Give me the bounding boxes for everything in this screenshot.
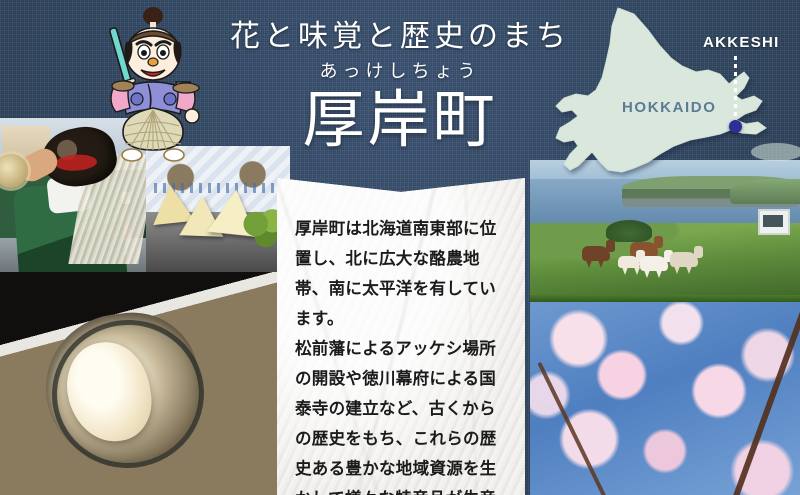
photo-horse: [640, 256, 668, 271]
photo-bush: [606, 220, 652, 242]
mascot-character: [96, 4, 206, 164]
description-paragraph-1: 厚岸町は北海道南東部に位置し、北に広大な酪農地帯、南に太平洋を有しています。: [295, 214, 509, 334]
photo-headland-cliff: [730, 179, 800, 204]
photo-branch: [537, 362, 606, 495]
town-name-kana: あっけしちょう: [200, 63, 600, 81]
mascot-hand: [185, 109, 199, 123]
photo-signboard: [758, 209, 790, 235]
mascot-foot: [122, 149, 142, 161]
description-card: 厚岸町は北海道南東部に位置し、北に広大な酪農地帯、南に太平洋を有しています。 松…: [277, 178, 525, 495]
photo-horse: [670, 252, 698, 267]
mascot-scallop-shell: [123, 108, 183, 150]
photo-coastal-pasture-horses: [530, 160, 800, 297]
description-text: 厚岸町は北海道南東部に位置し、北に広大な酪農地帯、南に太平洋を有しています。 松…: [295, 214, 509, 495]
mascot-crest: [131, 93, 143, 105]
headline-block: 花と味覚と歴史のまち あっけしちょう 厚岸町: [200, 0, 600, 165]
photo-oysters: [0, 272, 290, 495]
mascot-foot: [164, 149, 184, 161]
map-label-hokkaido: HOKKAIDO: [622, 99, 716, 116]
photo-cherry-blossoms: [530, 295, 800, 495]
photo-hand-bell: [0, 154, 28, 188]
mascot-eye: [160, 50, 166, 56]
mascot-eye: [141, 50, 147, 56]
mascot-nose: [148, 58, 158, 66]
description-paragraph-2: 松前藩によるアッケシ場所の開設や徳川幕府による国泰寺の建立など、古くからの歴史を…: [295, 334, 509, 495]
map-leader-line: [734, 56, 737, 122]
map-marker-akkeshi: [729, 120, 742, 133]
map-label-akkeshi: AKKESHI: [703, 34, 780, 51]
town-name: 厚岸町: [200, 87, 600, 152]
mascot-crest: [164, 93, 176, 105]
photo-horse: [618, 256, 640, 268]
tagline: 花と味覚と歴史のまち: [200, 22, 600, 52]
photo-horse: [582, 246, 610, 261]
photo-grass-strip: [530, 295, 800, 302]
photo-branch: [729, 295, 800, 495]
promo-banner: HOKKAIDO AKKESHI 花と味覚と歴史のまち あっけしちょう 厚岸町: [0, 0, 800, 495]
